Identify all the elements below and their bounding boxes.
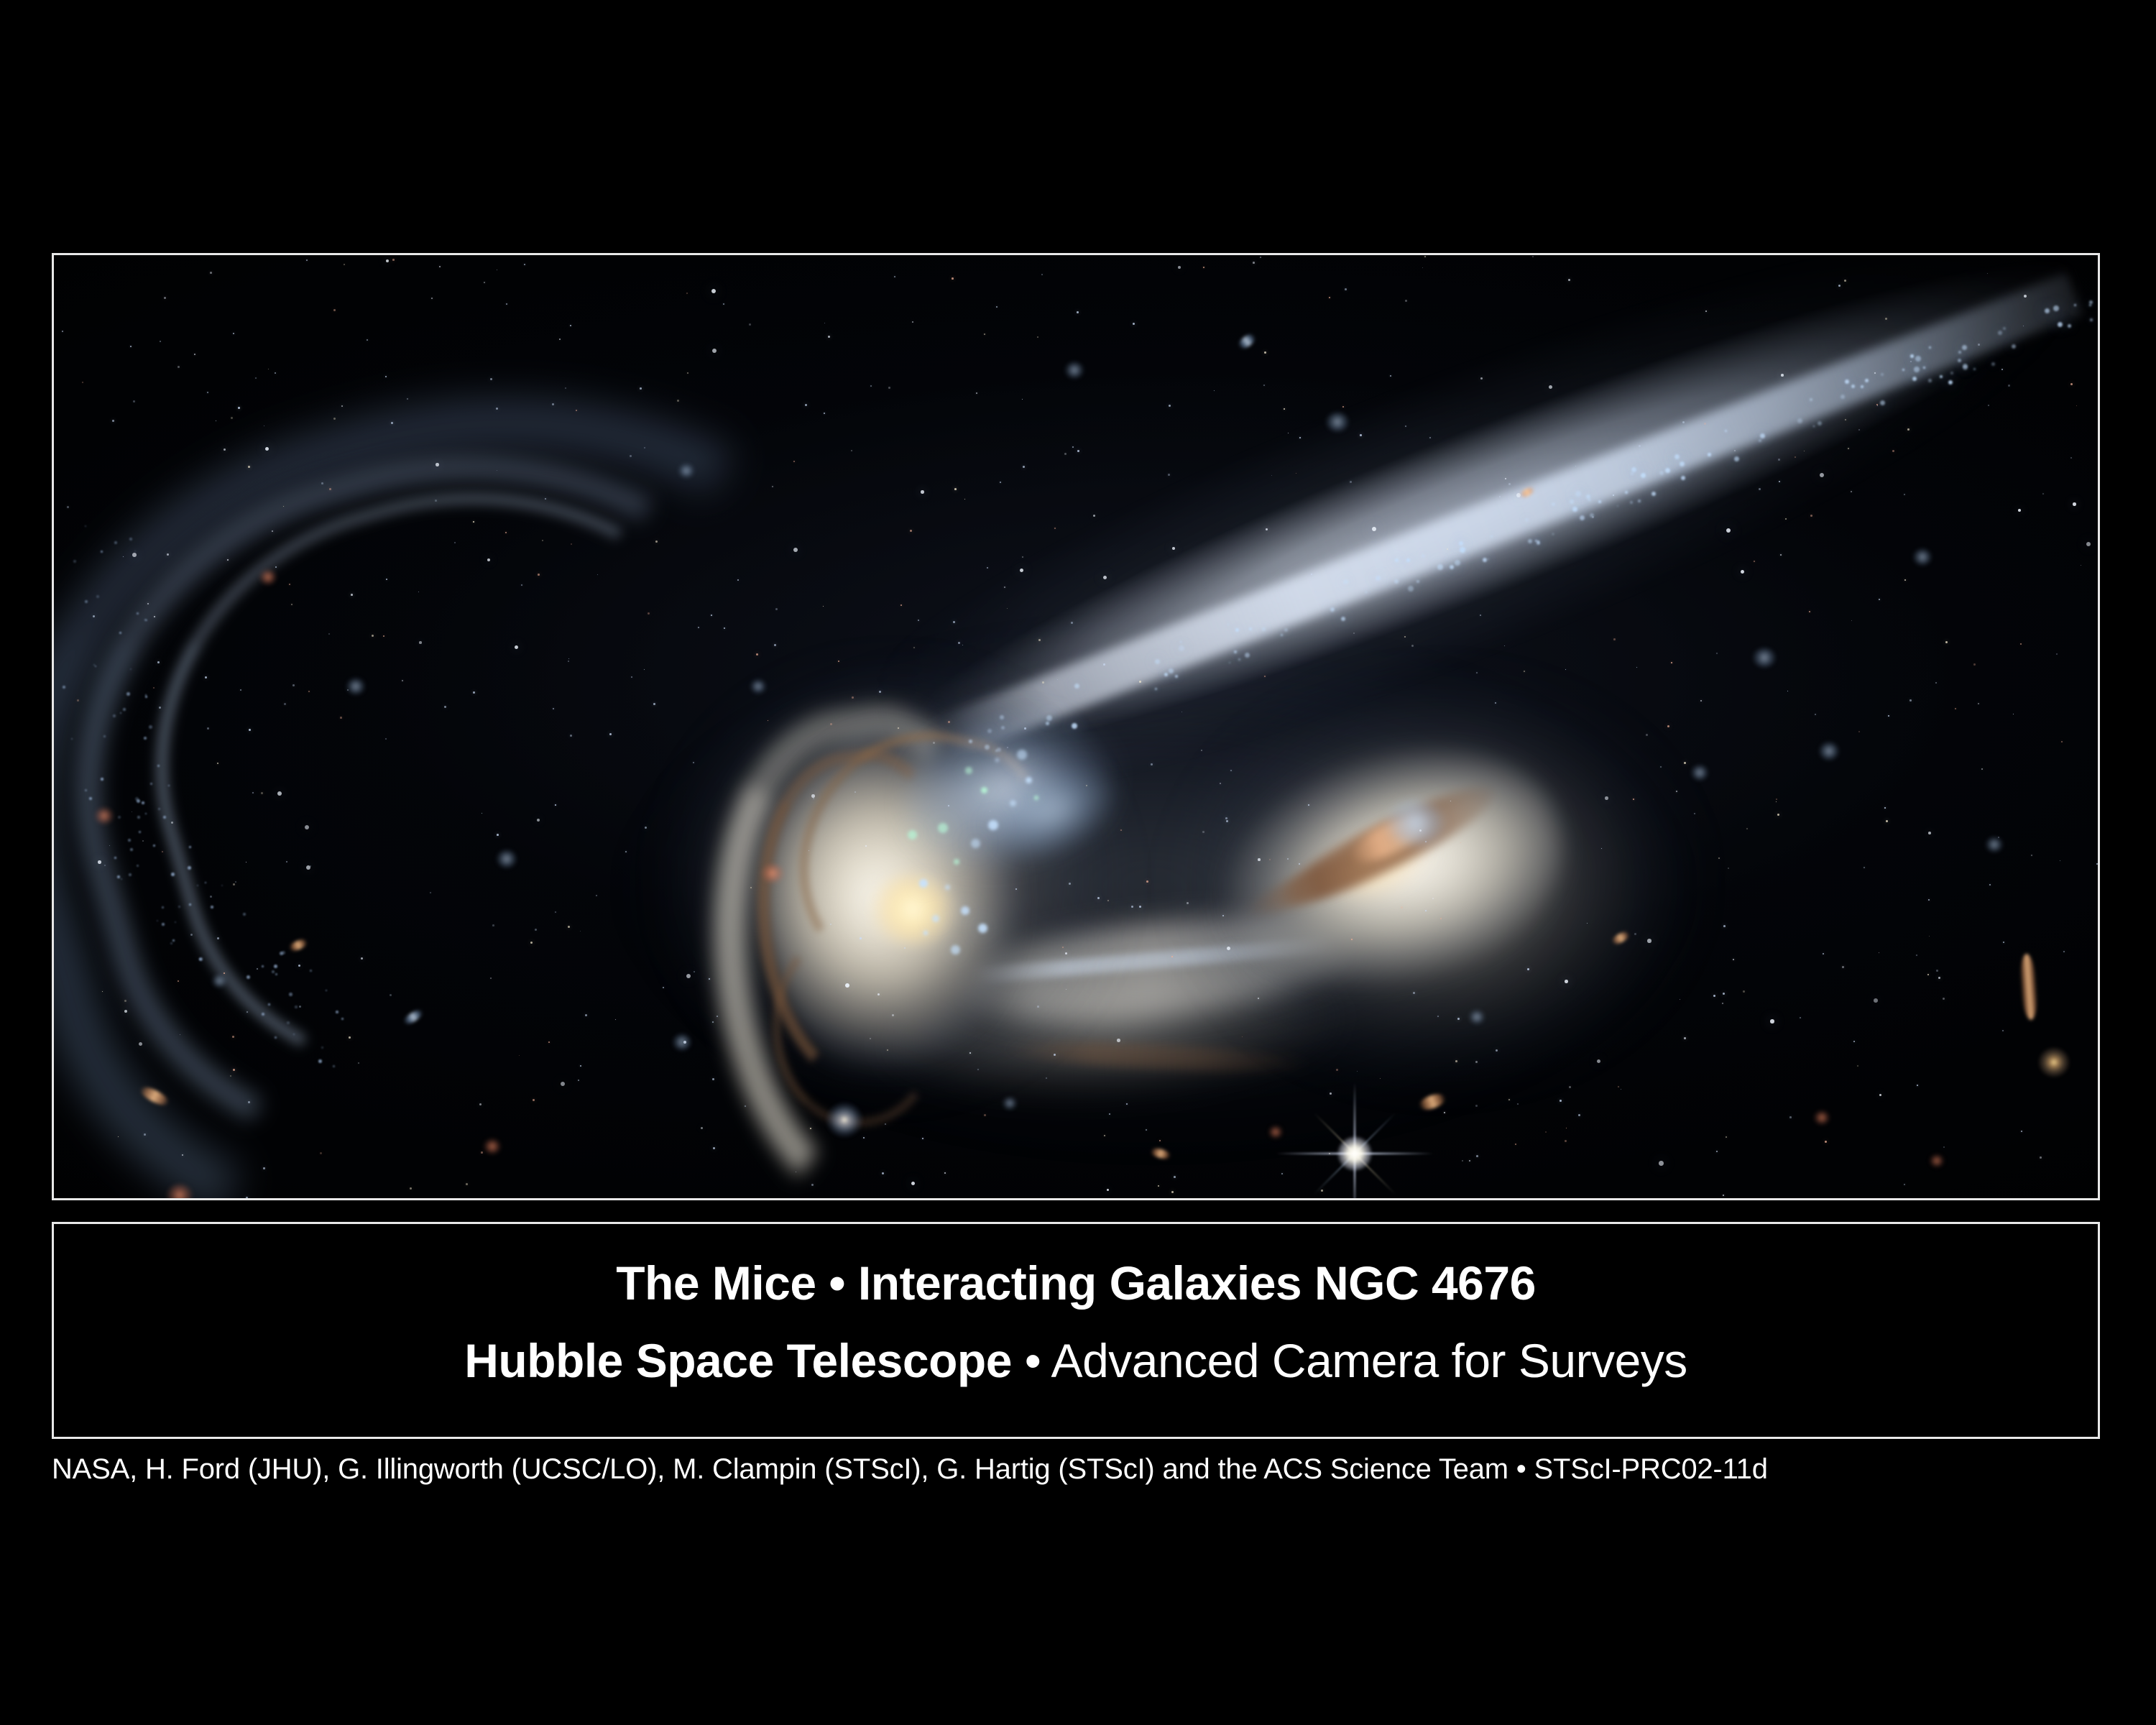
background-galaxy — [673, 1034, 691, 1050]
galaxy-b-blue-knot — [1387, 801, 1445, 845]
background-galaxy — [751, 680, 765, 693]
foreground-star-with-diffraction-spikes — [1276, 1075, 1434, 1198]
galaxy-a-dust-lane-3 — [765, 918, 946, 1131]
background-galaxy — [1236, 331, 1257, 351]
background-galaxy — [1519, 485, 1536, 500]
galaxy-b-dust-lane — [1271, 772, 1503, 921]
sky-background — [54, 255, 2098, 1198]
galaxy-a-spiral-arm — [681, 689, 1053, 1198]
background-galaxy — [1611, 929, 1631, 946]
galaxy-a-blue-knot-cluster — [977, 742, 1143, 875]
background-galaxy — [1327, 413, 1348, 431]
caption-title-line-1: The Mice • Interacting Galaxies NGC 4676 — [54, 1256, 2098, 1310]
credit-line: NASA, H. Ford (JHU), G. Illingworth (UCS… — [52, 1453, 2107, 1486]
galaxy-a-star-forming-region — [888, 678, 1154, 889]
background-galaxy — [484, 1139, 500, 1154]
tidal-bridge-lower — [876, 951, 1345, 1119]
background-galaxy — [1986, 837, 2002, 852]
background-galaxy — [1914, 549, 1931, 565]
galaxy-b-dust-lane-secondary — [1241, 829, 1425, 925]
galaxy-a-halo — [658, 658, 1146, 1118]
galaxy-a-dust-lane-2 — [778, 708, 1060, 1007]
tidal-bridge — [949, 903, 1359, 1038]
southern-tidal-tail-inner — [95, 419, 840, 1135]
galaxy-b-nucleus — [1310, 807, 1450, 922]
tidal-bridge-filament — [974, 937, 1333, 983]
background-galaxy — [2019, 953, 2039, 1020]
background-galaxy — [1754, 648, 1775, 667]
background-galaxy — [260, 570, 276, 584]
northern-tidal-tail-core — [930, 272, 2083, 762]
background-galaxy — [679, 464, 694, 477]
southern-tidal-tail-mid — [54, 366, 915, 1198]
caption-title-line-2: Hubble Space Telescope • Advanced Camera… — [54, 1333, 2098, 1388]
background-galaxy — [2037, 1046, 2070, 1078]
northern-tidal-tail-outer-glow — [825, 255, 2098, 884]
tidal-bridge-dust-lane — [1002, 1036, 1312, 1077]
background-galaxy — [1269, 1126, 1282, 1138]
background-galaxy — [762, 864, 783, 883]
background-galaxy — [402, 1008, 425, 1027]
background-galaxy — [213, 975, 226, 987]
background-galaxy — [1470, 1011, 1484, 1023]
galaxy-a-nucleus — [870, 873, 956, 945]
background-galaxy — [1003, 1098, 1016, 1109]
background-galaxy — [1692, 765, 1708, 780]
background-galaxy — [138, 1084, 171, 1109]
galaxy-b-disk — [1168, 712, 1593, 1043]
caption-box: The Mice • Interacting Galaxies NGC 4676… — [52, 1222, 2100, 1439]
background-galaxy — [1930, 1155, 1943, 1167]
background-galaxy — [1820, 742, 1838, 760]
northern-tidal-tail — [872, 255, 2098, 817]
background-galaxy — [1150, 1146, 1171, 1160]
background-galaxy — [96, 808, 113, 824]
background-galaxy — [288, 937, 309, 953]
galaxy-b-halo — [1153, 665, 1700, 1096]
background-galaxy — [497, 850, 516, 868]
southern-tidal-tail-outer — [54, 285, 1056, 1198]
astronomy-image-panel — [52, 253, 2100, 1200]
caption-instrument-name: • Advanced Camera for Surveys — [1012, 1334, 1687, 1387]
galaxy-a-disk — [743, 701, 1068, 1103]
caption-telescope-name: Hubble Space Telescope — [464, 1334, 1012, 1387]
background-galaxy — [347, 678, 364, 694]
background-galaxy — [825, 1101, 864, 1138]
background-galaxy — [1417, 1091, 1447, 1113]
galaxy-pair-halo — [614, 629, 1692, 1146]
galaxy-a-dust-lane-1 — [738, 740, 982, 1103]
background-galaxy — [167, 1184, 192, 1198]
background-galaxy — [1815, 1111, 1829, 1124]
background-galaxy — [1066, 362, 1083, 378]
galaxy-b-starburst-ridge — [1345, 805, 1436, 871]
